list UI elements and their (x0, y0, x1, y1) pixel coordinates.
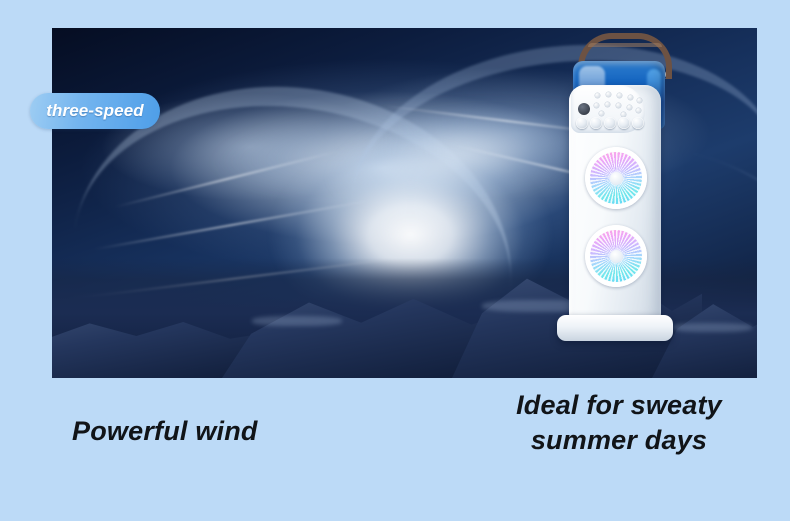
caption-summer-days: Ideal for sweaty summer days (480, 388, 758, 457)
timer-button[interactable] (632, 117, 644, 129)
three-speed-badge: three-speed (30, 93, 160, 129)
light-button[interactable] (618, 117, 630, 129)
caption-powerful-wind: Powerful wind (72, 416, 258, 447)
caption-summer-days-line2: summer days (480, 423, 758, 458)
fan-ring (585, 225, 647, 287)
caption-summer-days-line1: Ideal for sweaty (480, 388, 758, 423)
indicator-dots (593, 92, 643, 114)
power-button[interactable] (576, 117, 588, 129)
fan-ring (585, 147, 647, 209)
speed-button[interactable] (590, 117, 602, 129)
ocean-wave-photo (52, 28, 757, 378)
portable-rgb-cooling-fan (557, 33, 681, 333)
rock-highlight (252, 316, 342, 326)
fan-upper (585, 147, 647, 209)
device-body (569, 85, 661, 323)
control-panel (571, 85, 645, 133)
display-screen (578, 103, 590, 115)
fan-lower (585, 225, 647, 287)
button-row (576, 117, 646, 131)
product-banner: three-speed Powerful wind Ideal for swea… (0, 0, 790, 521)
three-speed-badge-label: three-speed (46, 101, 143, 121)
device-base (557, 315, 673, 341)
mist-button[interactable] (604, 117, 616, 129)
rock-highlight (672, 323, 752, 332)
